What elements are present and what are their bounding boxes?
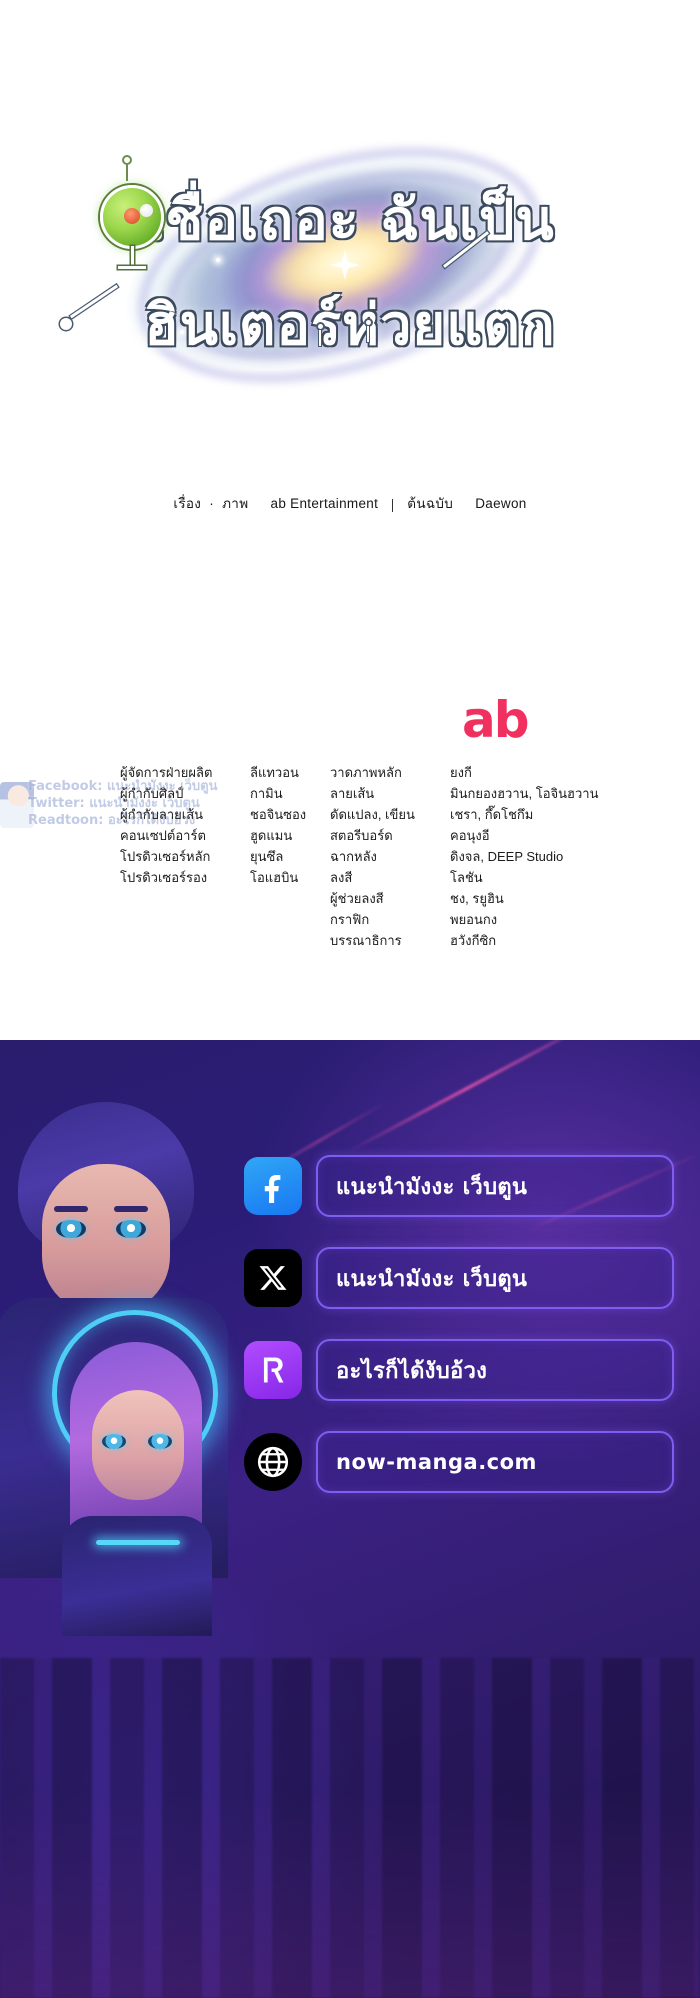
- girl-torso: [62, 1516, 212, 1636]
- boy-eye-right: [116, 1220, 146, 1238]
- credits-left-names-column: ลีแทวอน กามิน ชอจินซอง ฮูดแมน ยุนซึล โอแ…: [250, 762, 318, 951]
- boy-brow-left: [54, 1206, 88, 1212]
- webtoon-credits-page: เชื่อเถอะ ฉันเป็น ฮินเตอร์ห่วยแตก เรื่อง…: [0, 0, 700, 1998]
- boy-brow-right: [114, 1206, 148, 1212]
- credits-right-roles-column: วาดภาพหลัก ลายเส้น ดัดแปลง, เขียน สตอรีบ…: [330, 762, 438, 951]
- girl-eye-left: [102, 1434, 126, 1449]
- title-artwork: เชื่อเถอะ ฉันเป็น ฮินเตอร์ห่วยแตก: [0, 0, 700, 430]
- credits-role: ผู้กำกับศิลป์: [120, 783, 238, 804]
- credits-name: กามิน: [250, 783, 318, 804]
- credits-role: บรรณาธิการ: [330, 930, 438, 951]
- planet-stem-icon: [131, 246, 134, 268]
- credits-role: สตอรีบอร์ด: [330, 825, 438, 846]
- x-twitter-icon[interactable]: [244, 1249, 302, 1307]
- credits-name: ฮวังกีซิก: [450, 930, 640, 951]
- credits-right-names-column: ยงกี มินกยองฮวาน, โอจินฮวาน เชรา, กึ๊ดโช…: [450, 762, 640, 951]
- credits-role: ผู้กำกับลายเส้น: [120, 804, 238, 825]
- credits-name: ยุนซึล: [250, 846, 318, 867]
- credits-name: ลีแทวอน: [250, 762, 318, 783]
- credits-name: มินกยองฮวาน, โอจินฮวาน: [450, 783, 640, 804]
- credits-role: ฉากหลัง: [330, 846, 438, 867]
- pin-stem-icon: [367, 326, 369, 342]
- credits-name: ฮูดแมน: [250, 825, 318, 846]
- byline-story-label: เรื่อง: [173, 496, 201, 511]
- cover-section: เชื่อเถอะ ฉันเป็น ฮินเตอร์ห่วยแตก เรื่อง…: [0, 0, 700, 1005]
- character-girl-artwork: [44, 1326, 234, 1606]
- credits-role: คอนเซปต์อาร์ต: [120, 825, 238, 846]
- credits-name: พยอนกง: [450, 909, 640, 930]
- byline-art-label: ภาพ: [222, 496, 248, 511]
- boy-eye-left: [56, 1220, 86, 1238]
- promo-banner: แนะนำมังงะ เว็บตูน แนะนำมังงะ เว็บตูน: [0, 1040, 700, 1998]
- planet-white-dot-icon: [140, 204, 153, 217]
- boy-face: [42, 1164, 170, 1314]
- social-link-readtoon[interactable]: อะไรก็ได้งับอ้วง: [244, 1337, 674, 1403]
- credits-name: ยงกี: [450, 762, 640, 783]
- credits-role: ผู้ช่วยลงสี: [330, 888, 438, 909]
- credits-name: เชรา, กึ๊ดโชกึม: [450, 804, 640, 825]
- credits-role: ลายเส้น: [330, 783, 438, 804]
- byline-dot: ·: [209, 496, 214, 511]
- planet-foot-icon: [118, 266, 146, 269]
- credits-name: ดิงจล, DEEP Studio: [450, 846, 640, 867]
- byline-original-label: ต้นฉบับ: [407, 496, 453, 511]
- website-link-label[interactable]: now-manga.com: [316, 1431, 674, 1493]
- byline-studio: ab Entertainment: [271, 496, 379, 511]
- credits-role: กราฟิก: [330, 909, 438, 930]
- credits-role: วาดภาพหลัก: [330, 762, 438, 783]
- x-link-label[interactable]: แนะนำมังงะ เว็บตูน: [316, 1247, 674, 1309]
- byline: เรื่อง · ภาพ ab Entertainment ต้นฉบับ Da…: [0, 492, 700, 514]
- credits-left-roles-column: ผู้จัดการฝ่ายผลิต ผู้กำกับศิลป์ ผู้กำกับ…: [120, 762, 238, 951]
- readtoon-link-label[interactable]: อะไรก็ได้งับอ้วง: [316, 1339, 674, 1401]
- pin-stem-icon: [319, 330, 321, 346]
- credits-name: โอแฮบิน: [250, 867, 318, 888]
- credits-role: โปรดิวเซอร์หลัก: [120, 846, 238, 867]
- globe-icon[interactable]: [244, 1433, 302, 1491]
- credits-name: โลชัน: [450, 867, 640, 888]
- credits-role: ผู้จัดการฝ่ายผลิต: [120, 762, 238, 783]
- credits-table: ผู้จัดการฝ่ายผลิต ผู้กำกับศิลป์ ผู้กำกับ…: [120, 762, 640, 951]
- light-beam: [347, 1040, 613, 1153]
- byline-separator: [392, 499, 393, 512]
- readtoon-icon[interactable]: [244, 1341, 302, 1399]
- social-link-x[interactable]: แนะนำมังงะ เว็บตูน: [244, 1245, 674, 1311]
- credits-role: ดัดแปลง, เขียน: [330, 804, 438, 825]
- byline-original-value: Daewon: [475, 496, 526, 511]
- city-backdrop: [0, 1658, 700, 1998]
- publisher-logo: ab: [462, 695, 528, 745]
- credits-name: คอนุงอี: [450, 825, 640, 846]
- comet-head-icon: [60, 318, 72, 330]
- pin-stem-icon: [126, 163, 128, 181]
- social-link-facebook[interactable]: แนะนำมังงะ เว็บตูน: [244, 1153, 674, 1219]
- credits-role: โปรดิวเซอร์รอง: [120, 867, 238, 888]
- social-link-website[interactable]: now-manga.com: [244, 1429, 674, 1495]
- credits-name: ชง, รยูฮิน: [450, 888, 640, 909]
- girl-neon-trim: [96, 1540, 180, 1545]
- planet-red-dot-icon: [124, 208, 140, 224]
- credits-name: ชอจินซอง: [250, 804, 318, 825]
- girl-eye-right: [148, 1434, 172, 1449]
- facebook-icon[interactable]: [244, 1157, 302, 1215]
- credits-role: ลงสี: [330, 867, 438, 888]
- facebook-link-label[interactable]: แนะนำมังงะ เว็บตูน: [316, 1155, 674, 1217]
- social-links-list: แนะนำมังงะ เว็บตูน แนะนำมังงะ เว็บตูน: [244, 1153, 674, 1521]
